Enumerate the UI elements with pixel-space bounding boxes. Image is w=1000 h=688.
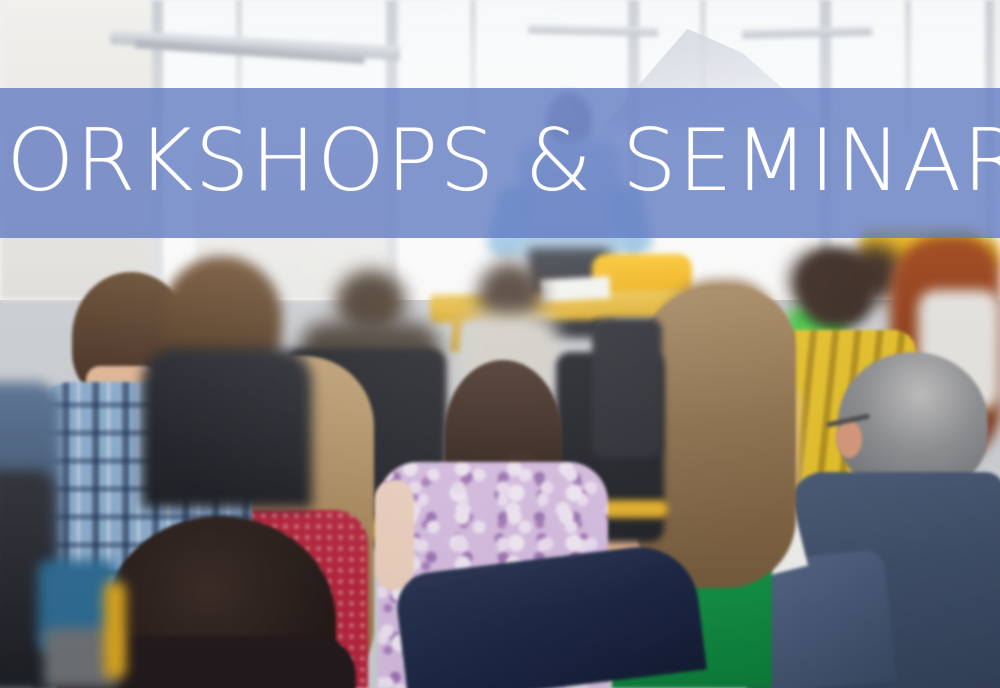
page-title: WORKSHOPS & SEMINARS: [0, 118, 1000, 208]
conference-banner-image: WORKSHOPS & SEMINARS: [0, 0, 1000, 688]
title-banner: WORKSHOPS & SEMINARS: [0, 88, 1000, 238]
person-yellow-stripes-head: [800, 248, 874, 328]
man-dark-shirt-torso: [142, 348, 312, 508]
paper-on-table: [539, 276, 610, 302]
man-grey-hair: [838, 352, 988, 492]
chair-back: [592, 318, 662, 458]
man-ear: [836, 420, 862, 458]
yellow-chair-frame: [104, 582, 126, 678]
woman-floral-shoulder: [374, 480, 414, 590]
